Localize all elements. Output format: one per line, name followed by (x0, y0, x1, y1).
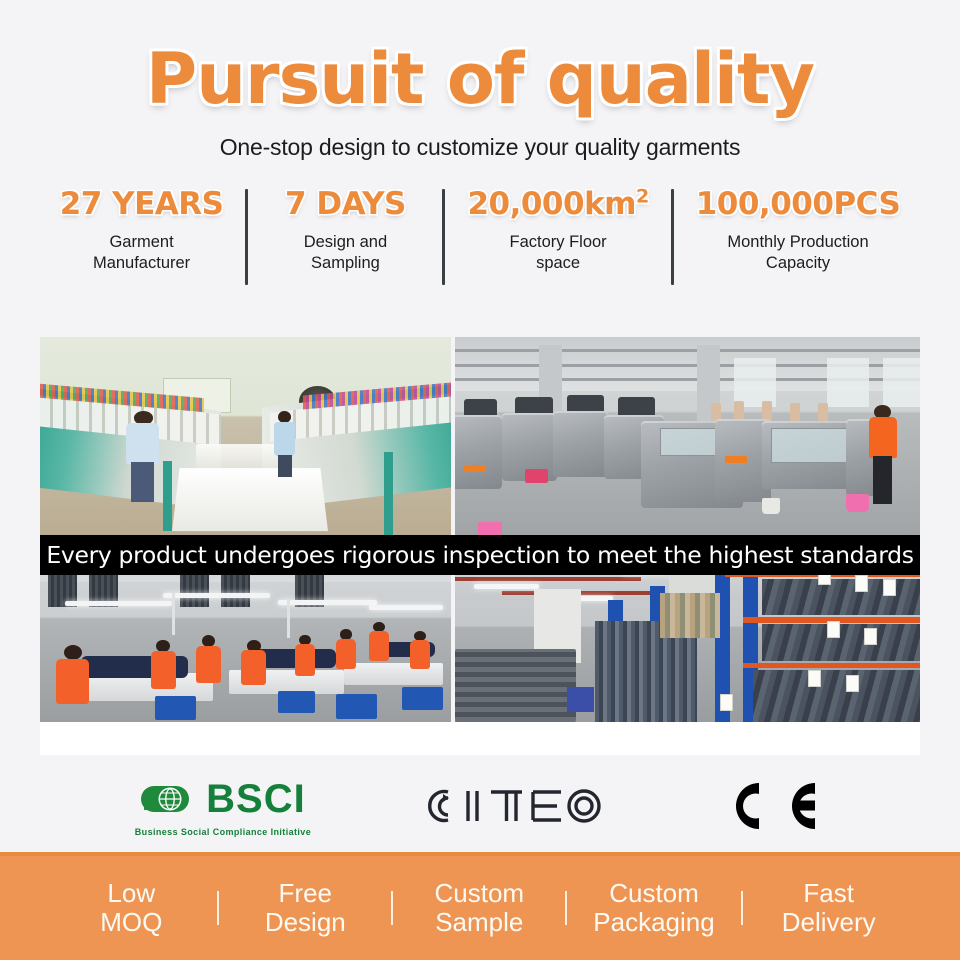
feature-item-custom-sample: Custom Sample (415, 879, 543, 937)
cert-citeo (421, 777, 606, 835)
bsci-tagline: Business Social Compliance Initiative (135, 827, 311, 837)
feature-divider (741, 891, 743, 925)
stat-label: Design and Sampling (270, 232, 420, 275)
feature-bar: Low MOQ Free Design Custom Sample Custom… (0, 852, 960, 960)
stat-value: 27 YEARS (60, 187, 224, 223)
stat-superscript: 2 (636, 186, 649, 208)
stat-value: 20,000km2 (467, 187, 648, 223)
cert-ce (715, 775, 825, 837)
stats-row: 27 YEARS Garment Manufacturer 7 DAYS Des… (0, 187, 960, 285)
photo-cell-embroidery (40, 337, 451, 543)
promo-banner: Pursuit of quality One-stop design to cu… (0, 0, 960, 960)
knitting-workshop-photo (455, 337, 920, 543)
ce-mark-icon (715, 775, 825, 837)
stat-value: 100,000PCS (696, 187, 901, 223)
cert-bsci: BSCI Business Social Compliance Initiati… (135, 776, 311, 837)
stat-divider (671, 189, 674, 285)
photo-cell-knitting (455, 337, 920, 543)
certification-row: BSCI Business Social Compliance Initiati… (0, 760, 960, 852)
feature-divider (565, 891, 567, 925)
page-title: Pursuit of quality (0, 44, 960, 114)
feature-divider (217, 891, 219, 925)
feature-item-custom-packaging: Custom Packaging (589, 879, 718, 937)
stat-divider (245, 189, 248, 285)
stat-item-days: 7 DAYS Design and Sampling (264, 187, 426, 275)
feature-item-low-moq: Low MOQ (67, 879, 195, 937)
page-subtitle: One-stop design to customize your qualit… (0, 134, 960, 161)
gallery-caption: Every product undergoes rigorous inspect… (40, 535, 920, 575)
stat-label: Factory Floor space (467, 232, 648, 275)
bsci-hand-globe-icon (140, 776, 198, 822)
feature-item-free-design: Free Design (241, 879, 369, 937)
stat-value: 7 DAYS (270, 187, 420, 223)
header: Pursuit of quality One-stop design to cu… (0, 0, 960, 161)
stat-item-capacity: 100,000PCS Monthly Production Capacity (690, 187, 907, 275)
photo-row-top (40, 337, 920, 543)
stat-item-floor-space: 20,000km2 Factory Floor space (461, 187, 654, 275)
bsci-wordmark: BSCI (206, 779, 306, 819)
stat-divider (442, 189, 445, 285)
stat-label: Garment Manufacturer (60, 232, 224, 275)
feature-divider (391, 891, 393, 925)
feature-item-fast-delivery: Fast Delivery (765, 879, 893, 937)
citeo-logo-icon (421, 777, 606, 835)
stat-label: Monthly Production Capacity (696, 232, 901, 275)
embroidery-workshop-photo (40, 337, 451, 543)
stat-item-years: 27 YEARS Garment Manufacturer (54, 187, 230, 275)
